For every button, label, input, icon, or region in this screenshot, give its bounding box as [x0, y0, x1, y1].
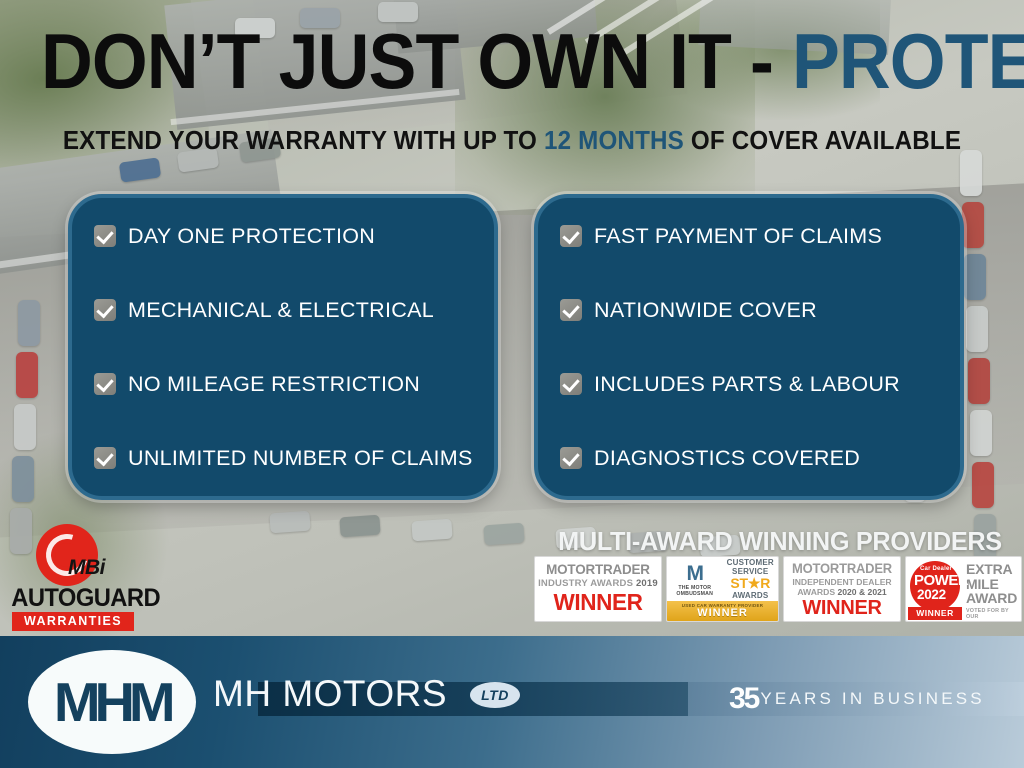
ombudsman-brand: THE MOTOR OMBUDSMAN	[667, 585, 723, 597]
badge-line-4: AWARDS	[723, 591, 779, 600]
checkbox-checked-icon	[560, 299, 582, 321]
feature-item: NO MILEAGE RESTRICTION	[94, 372, 476, 396]
subheadline-after: OF COVER AVAILABLE	[684, 125, 961, 155]
checkbox-checked-icon	[94, 299, 116, 321]
feature-label: FAST PAYMENT OF CLAIMS	[594, 224, 882, 248]
feature-item: MECHANICAL & ELECTRICAL	[94, 298, 476, 322]
badge-sub-1: VOTED FOR BY OUR	[966, 608, 1018, 620]
feature-label: UNLIMITED NUMBER OF CLAIMS	[128, 446, 473, 470]
badge-awards-word: AWARDS	[797, 587, 837, 597]
feature-label: NATIONWIDE COVER	[594, 298, 817, 322]
mbi-autoguard-logo: MBi AUTOGUARD WARRANTIES	[8, 524, 138, 630]
ombudsman-logo-icon: M	[687, 564, 704, 584]
feature-panel-right: FAST PAYMENT OF CLAIMS NATIONWIDE COVER …	[534, 194, 964, 500]
badge-winner-ribbon: USED CAR WARRANTY PROVIDER WINNER	[667, 601, 778, 621]
company-name: MH MOTORS	[213, 674, 447, 714]
awards-title: MULTI-AWARD WINNING PROVIDERS	[543, 526, 1016, 557]
star-awards-block: CUSTOMER SERVICE ST★R AWARDS	[723, 557, 779, 601]
headline-part-primary: DON’T JUST OWN IT -	[41, 17, 792, 105]
feature-item: FAST PAYMENT OF CLAIMS	[560, 224, 942, 248]
headline: DON’T JUST OWN IT - PROTECT IT	[41, 22, 983, 100]
feature-label: NO MILEAGE RESTRICTION	[128, 372, 420, 396]
badge-line-1: EXTRA	[966, 562, 1018, 577]
badge-line-2: MILE	[966, 577, 1018, 592]
badge-years-line: AWARDS 2020 & 2021	[787, 587, 897, 597]
awards-badge-row: MOTORTRADER INDUSTRY AWARDS 2019 WINNER …	[534, 556, 1024, 622]
feature-item: INCLUDES PARTS & LABOUR	[560, 372, 942, 396]
badge-subtitle: INDEPENDENT DEALER	[787, 577, 897, 587]
feature-panel-left: DAY ONE PROTECTION MECHANICAL & ELECTRIC…	[68, 194, 498, 500]
feature-item: UNLIMITED NUMBER OF CLAIMS	[94, 446, 476, 470]
mhm-monogram: MHM	[54, 674, 170, 730]
extra-mile-award-block: EXTRA MILE AWARD VOTED FOR BY OUR DEALER…	[964, 557, 1021, 621]
feature-item: NATIONWIDE COVER	[560, 298, 942, 322]
feature-label: DAY ONE PROTECTION	[128, 224, 375, 248]
badge-subtitle: INDUSTRY AWARDS 2019	[538, 578, 658, 589]
car-dealer-power-block: Car Dealer POWER 2022 WINNER	[906, 557, 964, 621]
badge-result: WINNER	[697, 608, 748, 619]
feature-label: INCLUDES PARTS & LABOUR	[594, 372, 900, 396]
subheadline: EXTEND YOUR WARRANTY WITH UP TO 12 MONTH…	[36, 125, 988, 155]
feature-label: MECHANICAL & ELECTRICAL	[128, 298, 434, 322]
advert-canvas: DON’T JUST OWN IT - PROTECT IT EXTEND YO…	[0, 0, 1024, 768]
feature-label: DIAGNOSTICS COVERED	[594, 446, 860, 470]
autoguard-subtitle: WARRANTIES	[12, 612, 134, 631]
checkbox-checked-icon	[560, 225, 582, 247]
checkbox-checked-icon	[560, 447, 582, 469]
badge-result: WINNER	[787, 597, 897, 620]
mhm-logo-oval: MHM	[28, 650, 196, 754]
badge-line-3: AWARD	[966, 591, 1018, 606]
ltd-badge: LTD	[470, 682, 520, 708]
badge-result: WINNER	[539, 589, 657, 615]
checkbox-checked-icon	[94, 225, 116, 247]
years-in-business: 35 YEARS IN BUSINESS	[729, 684, 985, 714]
headline-part-accent: PROTECT IT	[792, 17, 1024, 105]
badge-brand: MOTORTRADER	[789, 561, 895, 576]
autoguard-name: AUTOGUARD	[11, 584, 135, 613]
years-label: YEARS IN BUSINESS	[760, 689, 984, 709]
badge-subtitle-text: INDUSTRY AWARDS	[538, 578, 636, 589]
badge-star-wordmark: ST★R	[723, 576, 779, 591]
checkbox-checked-icon	[94, 447, 116, 469]
subheadline-highlight: 12 MONTHS	[544, 125, 684, 155]
badge-years: 2020 & 2021	[837, 587, 886, 597]
award-badge-car-dealer-power-extra-mile: Car Dealer POWER 2022 WINNER EXTRA MILE …	[905, 556, 1022, 622]
badge-power-word: POWER	[914, 573, 968, 588]
badge-year: 2022	[917, 588, 946, 602]
subheadline-before: EXTEND YOUR WARRANTY WITH UP TO	[63, 125, 544, 155]
motor-ombudsman-block: M THE MOTOR OMBUDSMAN	[667, 557, 723, 601]
badge-top-row: M THE MOTOR OMBUDSMAN CUSTOMER SERVICE S…	[667, 557, 778, 601]
years-number: 35	[729, 684, 758, 714]
feature-item: DAY ONE PROTECTION	[94, 224, 476, 248]
checkbox-checked-icon	[560, 373, 582, 395]
award-badge-motortrader-2019: MOTORTRADER INDUSTRY AWARDS 2019 WINNER	[534, 556, 662, 622]
badge-brand: MOTORTRADER	[540, 561, 655, 577]
award-badge-customer-service-star: M THE MOTOR OMBUDSMAN CUSTOMER SERVICE S…	[666, 556, 779, 622]
award-badge-motortrader-independent-dealer: MOTORTRADER INDEPENDENT DEALER AWARDS 20…	[783, 556, 901, 622]
feature-item: DIAGNOSTICS COVERED	[560, 446, 942, 470]
badge-year: 2019	[636, 578, 658, 589]
badge-result: WINNER	[908, 607, 962, 620]
checkbox-checked-icon	[94, 373, 116, 395]
mbi-mark-text: MBi	[68, 556, 105, 580]
